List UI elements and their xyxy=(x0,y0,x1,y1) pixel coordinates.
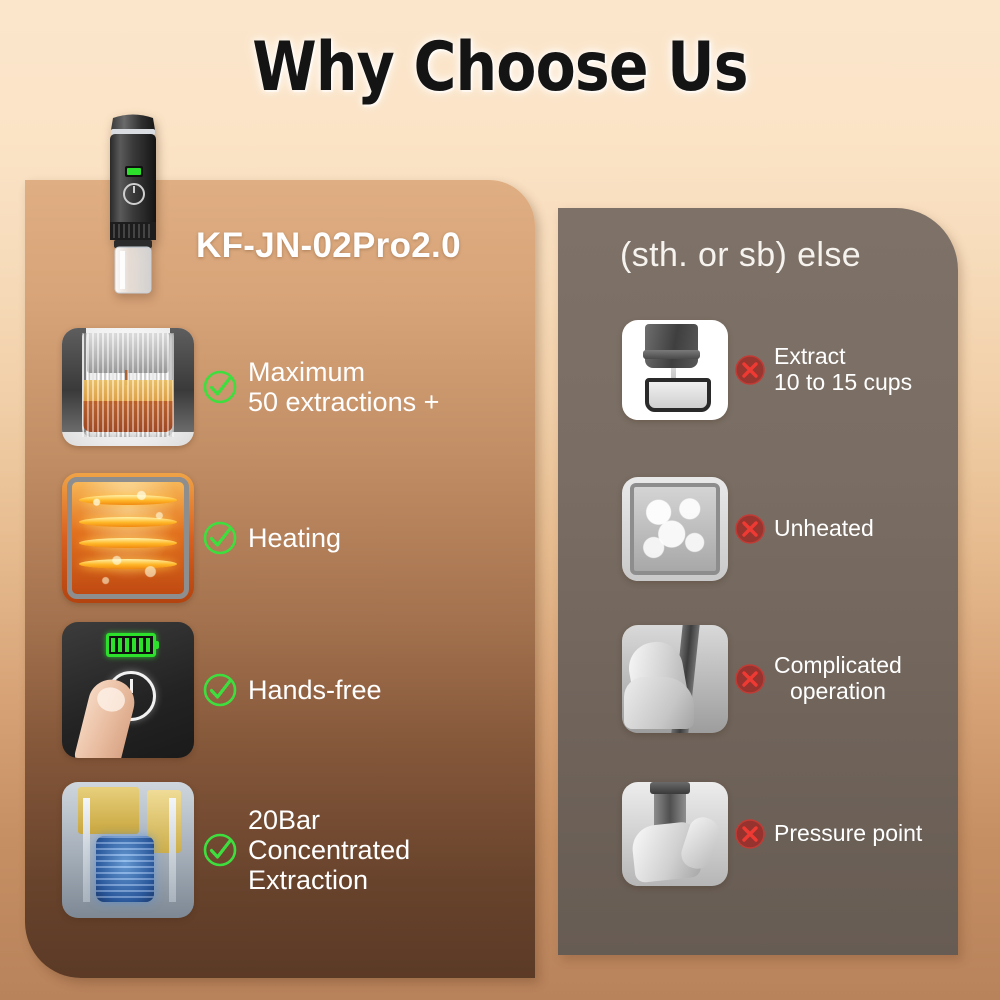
feature-image-power-button-finger xyxy=(62,622,194,758)
feature-image-heating-coils xyxy=(62,473,194,603)
feature-label: Complicated operation xyxy=(774,653,902,705)
feature-image-hand-holding-rod xyxy=(622,625,728,733)
green-check-icon xyxy=(202,520,238,556)
green-check-icon xyxy=(202,832,238,868)
feature-label: Maximum 50 extractions + xyxy=(248,357,439,417)
feature-label: Hands-free xyxy=(248,675,382,705)
green-check-icon xyxy=(202,369,238,405)
red-cross-icon xyxy=(734,818,766,850)
feature-label: Pressure point xyxy=(774,821,922,847)
red-cross-icon xyxy=(734,513,766,545)
feature-label: Heating xyxy=(248,523,341,553)
feature-image-pressure-pump xyxy=(62,782,194,918)
feature-image-hand-pressing-bottle xyxy=(622,782,728,886)
feature-row-right-2: Unheated xyxy=(622,477,874,581)
feature-image-coffee-extraction-cup xyxy=(62,328,194,446)
feature-image-pouring-coffee-head xyxy=(622,320,728,420)
feature-image-ice-cold-jar xyxy=(622,477,728,581)
feature-label: 20Bar Concentrated Extraction xyxy=(248,805,410,896)
green-check-icon xyxy=(202,672,238,708)
feature-row-left-2: Heating xyxy=(62,473,341,603)
hero-product-image xyxy=(99,110,167,300)
red-cross-icon xyxy=(734,354,766,386)
feature-row-right-4: Pressure point xyxy=(622,782,922,886)
page-title: Why Choose Us xyxy=(70,34,930,102)
feature-row-right-3: Complicated operation xyxy=(622,625,902,733)
feature-row-left-1: Maximum 50 extractions + xyxy=(62,328,439,446)
right-panel-heading: (sth. or sb) else xyxy=(620,236,861,275)
feature-label: Unheated xyxy=(774,516,874,542)
feature-row-left-3: Hands-free xyxy=(62,622,382,758)
red-cross-icon xyxy=(734,663,766,695)
feature-row-left-4: 20Bar Concentrated Extraction xyxy=(62,782,410,918)
feature-label: Extract 10 to 15 cups xyxy=(774,344,912,396)
feature-row-right-1: Extract 10 to 15 cups xyxy=(622,320,912,420)
left-panel-heading: KF-JN-02Pro2.0 xyxy=(196,226,461,266)
